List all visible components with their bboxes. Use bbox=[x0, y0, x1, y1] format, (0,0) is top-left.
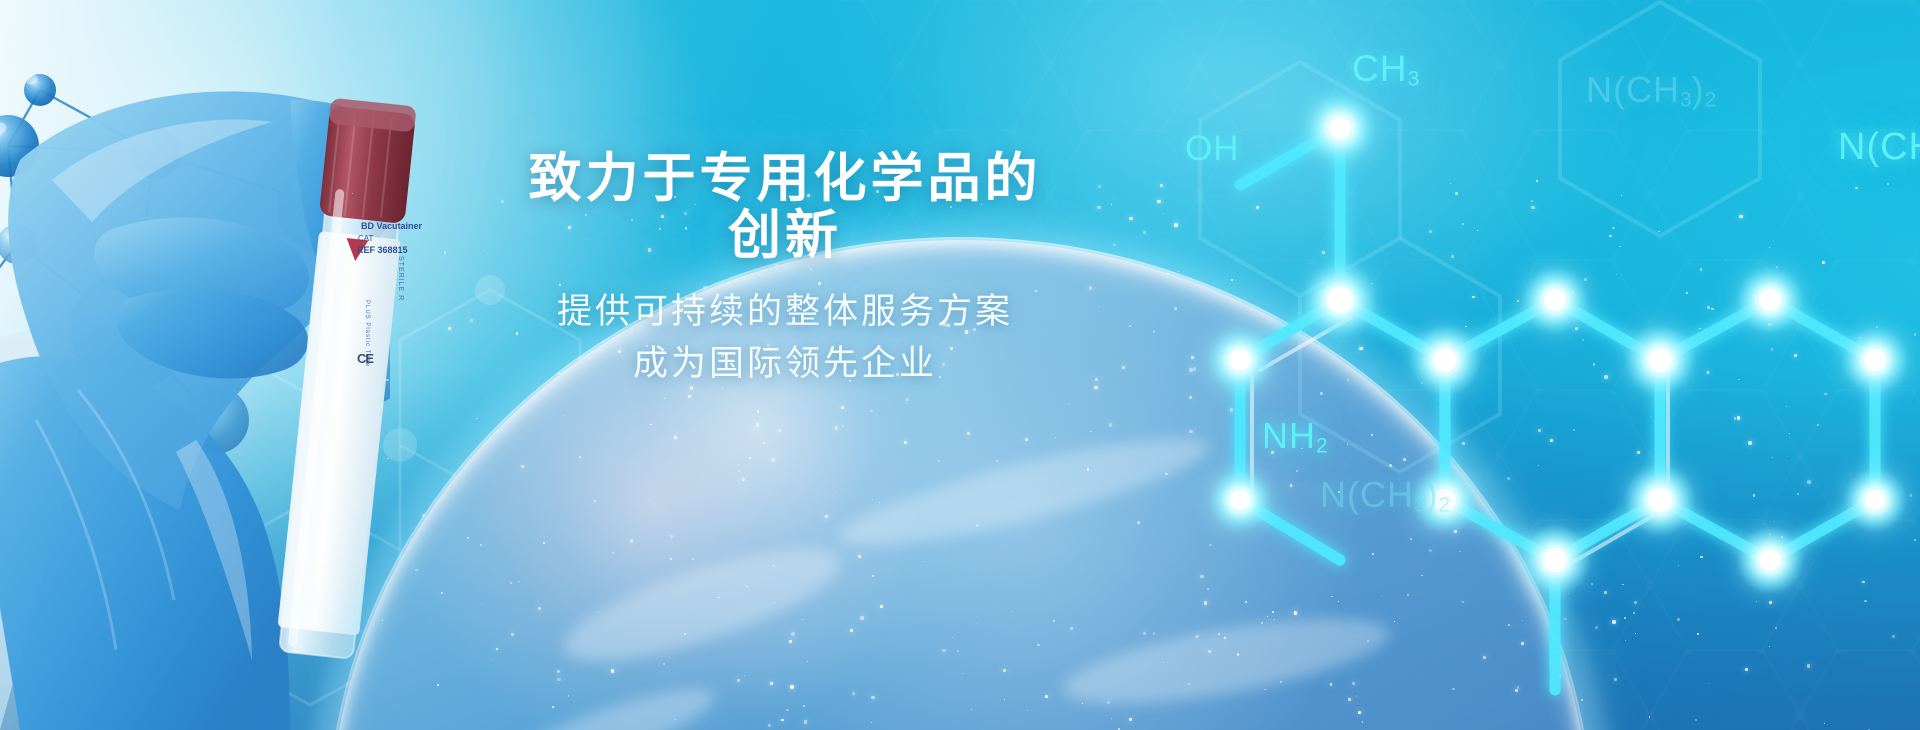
vial-brand-text: BD Vacutainer bbox=[361, 222, 422, 231]
vial-cat-text: CAT bbox=[358, 235, 373, 243]
hero-subline-1: 提供可持续的整体服务方案 bbox=[505, 286, 1065, 338]
hero-headline: 致力于专用化学品的创新 bbox=[505, 150, 1065, 264]
ce-mark-icon: CE bbox=[357, 352, 373, 365]
glowing-molecule-structure bbox=[1100, 0, 1920, 730]
hero-copy-block: 致力于专用化学品的创新 提供可持续的整体服务方案 成为国际领先企业 bbox=[505, 150, 1065, 390]
formula-label-nh2: NH2 bbox=[1262, 418, 1328, 457]
hero-banner: BD Vacutainer CAT REF 368815 STERILE R P… bbox=[0, 0, 1920, 730]
hero-subline-2: 成为国际领先企业 bbox=[505, 338, 1065, 390]
formula-label-nch3-ghost: N(CH3)2 bbox=[1586, 72, 1716, 111]
vial-side-text: STERILE R bbox=[397, 256, 404, 301]
molecular-sphere-network-icon bbox=[0, 20, 390, 460]
formula-label-oh: OH bbox=[1185, 131, 1240, 166]
vial-ref-text: REF 368815 bbox=[357, 246, 408, 255]
formula-label-nch3-bottom: N(CH3)2 bbox=[1320, 477, 1450, 516]
formula-label-ch3: CH3 bbox=[1352, 50, 1419, 90]
earth-atmosphere-glow bbox=[304, 214, 1616, 730]
left-light-wash bbox=[0, 0, 640, 730]
hexagon-lattice-left bbox=[0, 180, 680, 730]
formula-label-nch3-top: N(CH3)2 bbox=[1838, 128, 1920, 168]
bottom-blue-wash bbox=[0, 370, 1920, 730]
top-glow-wash bbox=[883, 0, 1643, 360]
gloved-hand-with-test-tube-illustration bbox=[0, 40, 480, 730]
